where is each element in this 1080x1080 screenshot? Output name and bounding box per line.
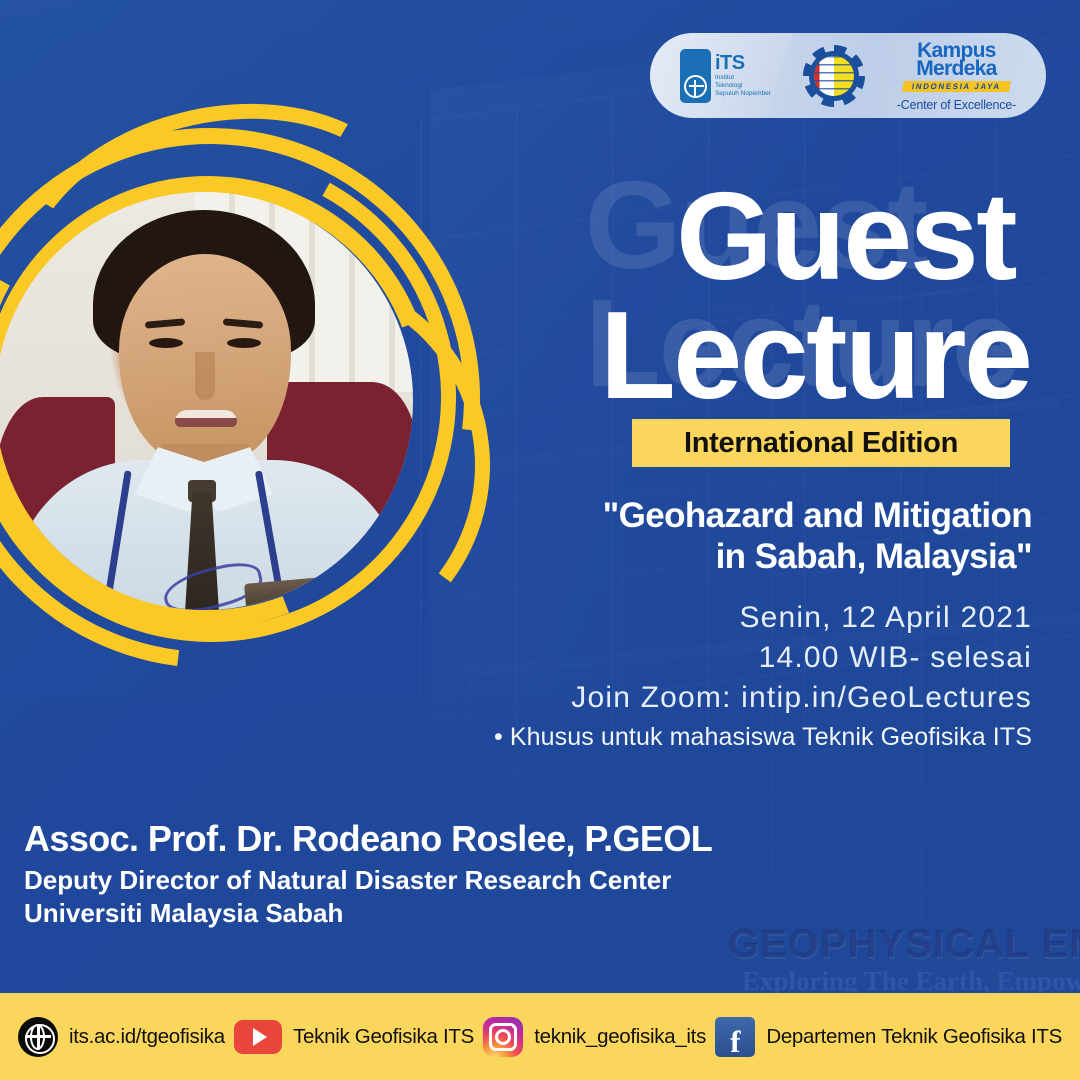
lecture-topic: "Geohazard and Mitigation in Sabah, Mala… [540, 495, 1032, 578]
gear-globe-emblem-icon [803, 45, 865, 107]
globe-icon [18, 1017, 58, 1057]
poster-canvas: GEOPHYSICAL ENGINEER Exploring The Earth… [0, 0, 1080, 1080]
speaker-role: Deputy Director of Natural Disaster Rese… [24, 864, 671, 929]
portrait-eye-left [149, 338, 183, 348]
portrait-image [0, 192, 413, 610]
speaker-name: Assoc. Prof. Dr. Rodeano Roslee, P.GEOL [24, 818, 712, 860]
bullet-marker: • [494, 723, 503, 751]
portrait-eye-right [227, 338, 261, 348]
edition-badge: International Edition [632, 419, 1010, 467]
speaker-portrait [0, 192, 413, 610]
page-title: Guest Lecture [600, 178, 1015, 416]
footer-label-instagram: teknik_geofisika_its [534, 1025, 706, 1049]
footer-item-website[interactable]: its.ac.id/tgeofisika [18, 1017, 225, 1057]
footer-item-facebook[interactable]: f Departemen Teknik Geofisika ITS [715, 1017, 1062, 1057]
footer-label-facebook: Departemen Teknik Geofisika ITS [766, 1025, 1062, 1049]
facebook-icon: f [715, 1017, 755, 1057]
footer-label-youtube: Teknik Geofisika ITS [293, 1025, 474, 1049]
footer-label-website: its.ac.id/tgeofisika [69, 1025, 225, 1049]
kampus-merdeka-logo: Kampus Merdeka INDONESIA JAYA -Center of… [897, 40, 1016, 112]
center-of-excellence-tagline: -Center of Excellence- [897, 99, 1016, 112]
instagram-icon [483, 1017, 523, 1057]
footer-social-bar: its.ac.id/tgeofisika Teknik Geofisika IT… [0, 993, 1080, 1080]
portrait-mouth [175, 410, 237, 427]
portrait-nose [195, 352, 215, 400]
audience-note-text: Khusus untuk mahasiswa Teknik Geofisika … [510, 723, 1032, 751]
footer-item-youtube[interactable]: Teknik Geofisika ITS [234, 1020, 474, 1054]
schedule-details: Senin, 12 April 2021 14.00 WIB- selesai … [520, 598, 1032, 718]
its-shield-gear-icon [680, 49, 711, 103]
audience-note: • Khusus untuk mahasiswa Teknik Geofisik… [480, 722, 1032, 752]
its-logo: iTS Institut Teknologi Sepuluh Nopember [680, 49, 771, 103]
its-subtitle: Institut Teknologi Sepuluh Nopember [715, 74, 771, 98]
header-logo-bar: iTS Institut Teknologi Sepuluh Nopember … [650, 33, 1046, 118]
youtube-icon [234, 1020, 282, 1054]
kampus-merdeka-ribbon: INDONESIA JAYA [902, 81, 1011, 92]
facade-sign-text: GEOPHYSICAL ENGINEER [728, 922, 1080, 967]
footer-item-instagram[interactable]: teknik_geofisika_its [483, 1017, 706, 1057]
kampus-merdeka-line2: Merdeka [916, 58, 996, 79]
its-acronym: iTS [715, 53, 771, 73]
